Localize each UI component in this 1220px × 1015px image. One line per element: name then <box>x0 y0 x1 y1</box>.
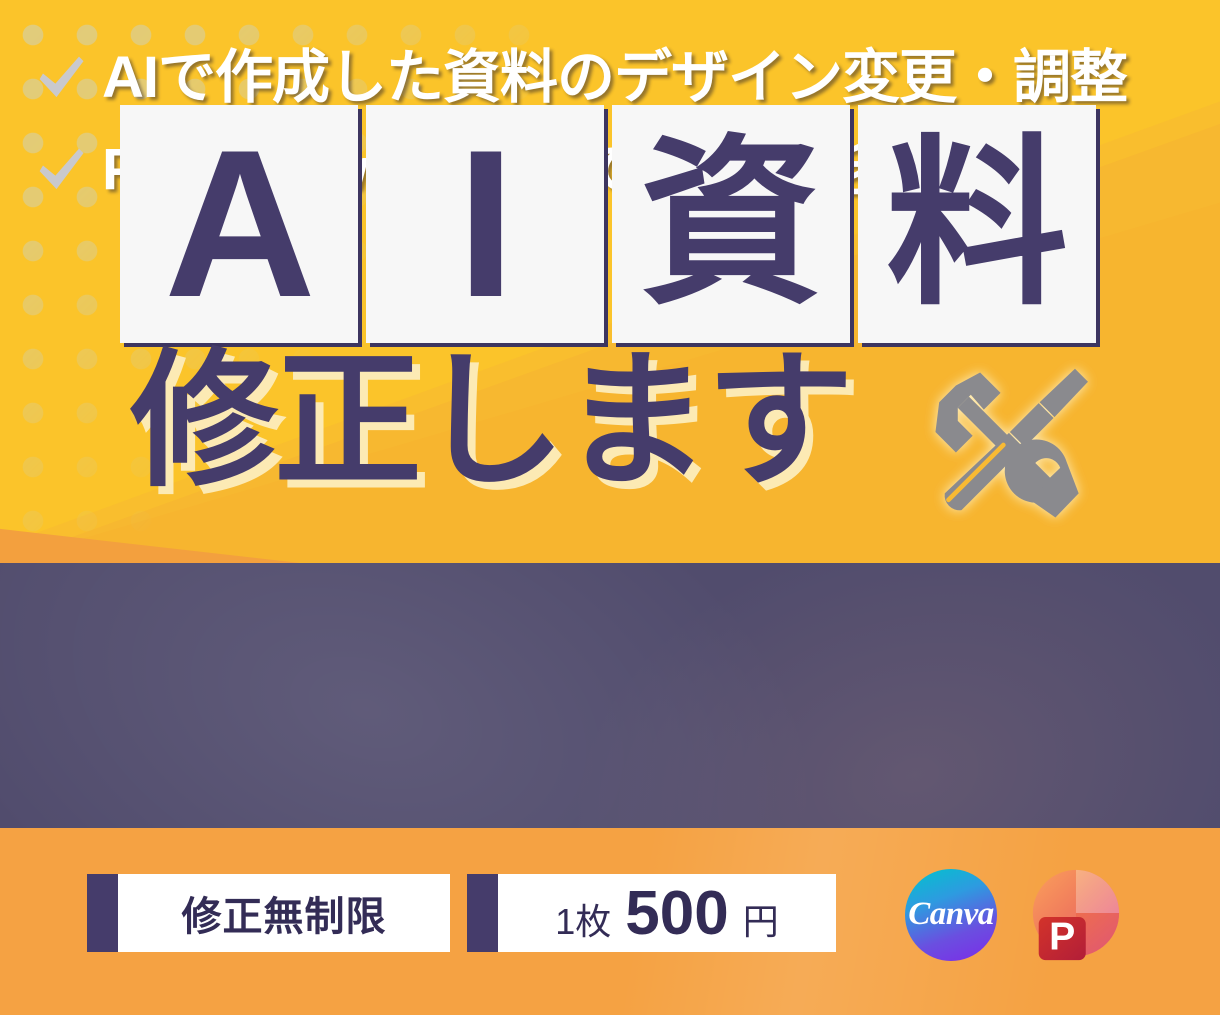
canva-logo: Canva <box>905 869 997 961</box>
list-item-label: AIで作成した資料のデザイン変更・調整 <box>102 49 1127 107</box>
price-badge: 1枚 500 円 <box>468 874 836 952</box>
service-banner: A I 資 料 修正します AIで作成した資料のデザイン変更・調整 <box>0 0 1220 1015</box>
badge-accent-tab <box>87 874 118 952</box>
hero-title-box: A <box>120 105 358 343</box>
price-value: 500 <box>625 878 728 949</box>
check-mark-icon <box>34 51 88 105</box>
brand-logos: Canva <box>905 866 1123 964</box>
badge-accent-tab <box>467 874 498 952</box>
features-panel <box>0 563 1220 828</box>
hero-title-box: 資 <box>612 105 850 343</box>
unlimited-revisions-label: 修正無制限 <box>182 884 387 942</box>
price-currency-label: 円 <box>743 893 779 945</box>
powerpoint-logo: P <box>1025 866 1123 964</box>
hero-title-box: I <box>366 105 604 343</box>
svg-text:P: P <box>1049 915 1075 958</box>
canva-logo-label: Canva <box>908 896 994 933</box>
hero-title-box: 料 <box>858 105 1096 343</box>
wrench-screwdriver-icon <box>912 352 1104 538</box>
price-unit-label: 1枚 <box>555 893 611 945</box>
check-mark-icon <box>34 143 88 197</box>
hero-title-boxes: A I 資 料 <box>120 105 1096 343</box>
unlimited-revisions-badge: 修正無制限 <box>88 874 450 952</box>
hero-headline: 修正します <box>130 348 850 496</box>
